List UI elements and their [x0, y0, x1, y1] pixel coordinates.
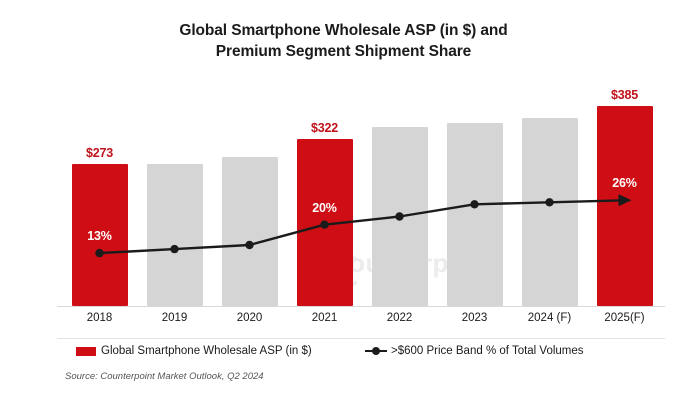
legend-item-asp[interactable]: Global Smartphone Wholesale ASP (in $) — [76, 345, 312, 357]
x-axis-tick-2020: 2020 — [212, 312, 287, 324]
plot-area: Counterpoint $273$322$385 13%20%26% — [62, 62, 662, 306]
chart-title: Global Smartphone Wholesale ASP (in $) a… — [0, 20, 687, 62]
chart-title-line-2: Premium Segment Shipment Share — [0, 41, 687, 62]
line-marker-2024F — [545, 198, 553, 206]
line-marker-2019 — [170, 245, 178, 253]
legend-item-price-band[interactable]: >$600 Price Band % of Total Volumes — [365, 345, 584, 357]
x-axis-labels: 2018201920202021202220232024 (F)2025(F) — [62, 310, 662, 332]
source-note: Source: Counterpoint Market Outlook, Q2 … — [65, 371, 264, 382]
legend-item-price-band-label: >$600 Price Band % of Total Volumes — [391, 345, 584, 357]
x-axis-tick-2025F: 2025(F) — [587, 312, 662, 324]
percent-label-2021: 20% — [290, 201, 360, 215]
x-axis-tick-2024F: 2024 (F) — [512, 312, 587, 324]
line-marker-2022 — [395, 212, 403, 220]
x-axis-tick-2022: 2022 — [362, 312, 437, 324]
x-axis-line — [57, 306, 665, 307]
percent-label-2025F: 26% — [590, 176, 660, 190]
x-axis-tick-2019: 2019 — [137, 312, 212, 324]
line-series-svg — [62, 62, 662, 306]
line-end-arrow-icon — [619, 194, 632, 206]
line-marker-2023 — [470, 200, 478, 208]
line-marker-2020 — [245, 241, 253, 249]
legend-divider — [57, 338, 665, 339]
chart-legend: Global Smartphone Wholesale ASP (in $) >… — [62, 345, 662, 365]
legend-item-asp-label: Global Smartphone Wholesale ASP (in $) — [101, 345, 312, 357]
x-axis-tick-2018: 2018 — [62, 312, 137, 324]
x-axis-tick-2023: 2023 — [437, 312, 512, 324]
line-marker-2021 — [320, 221, 328, 229]
percent-label-2018: 13% — [65, 229, 135, 243]
chart-title-line-1: Global Smartphone Wholesale ASP (in $) a… — [0, 20, 687, 41]
legend-red-swatch-icon — [76, 347, 96, 356]
legend-line-marker-icon — [365, 346, 387, 356]
chart-card: Global Smartphone Wholesale ASP (in $) a… — [0, 0, 687, 404]
x-axis-tick-2021: 2021 — [287, 312, 362, 324]
line-series-path — [100, 200, 625, 253]
line-marker-2018 — [95, 249, 103, 257]
